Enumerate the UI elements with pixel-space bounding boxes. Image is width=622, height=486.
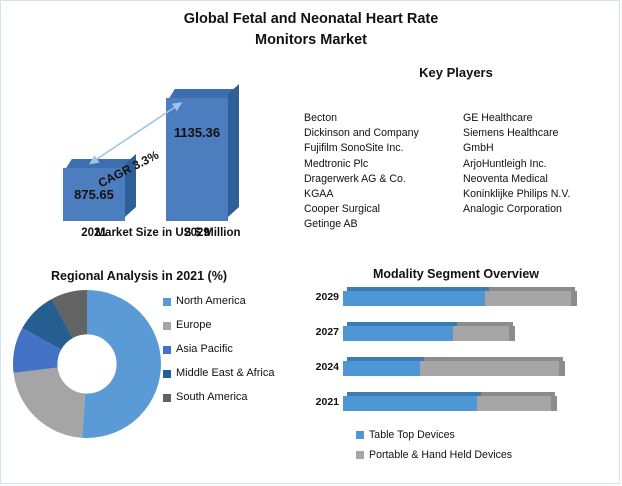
page-title-line-1: Global Fetal and Neonatal Heart Rate bbox=[111, 9, 511, 30]
legend-swatch-icon bbox=[163, 370, 171, 378]
key-player-item: Cooper Surgical bbox=[304, 202, 439, 217]
legend-label: North America bbox=[176, 295, 246, 309]
legend-item-asia-pacific: Asia Pacific bbox=[163, 343, 288, 357]
legend-item-europe: Europe bbox=[163, 319, 288, 333]
segment-cap-portable bbox=[571, 291, 577, 306]
legend-swatch-icon bbox=[163, 298, 171, 306]
legend-swatch-icon bbox=[356, 431, 364, 439]
key-player-item: Fujifilm SonoSite Inc. bbox=[304, 141, 439, 156]
modality-row-2024: 2024 bbox=[301, 355, 601, 381]
key-player-item: Medtronic Plc bbox=[304, 157, 439, 172]
legend-item-south-america: South America bbox=[163, 391, 288, 405]
segment-portable-hand-held bbox=[477, 396, 551, 411]
key-player-item: ArjoHuntleigh Inc. bbox=[463, 157, 613, 172]
market-size-axis-label: Market Size in US $ Million bbox=[53, 227, 283, 239]
regional-analysis-title: Regional Analysis in 2021 (%) bbox=[19, 269, 259, 283]
modality-track bbox=[343, 322, 518, 344]
segment-cap-portable bbox=[559, 361, 565, 376]
segment-cap-portable bbox=[551, 396, 557, 411]
modality-year-label: 2021 bbox=[305, 396, 339, 408]
legend-label: Middle East & Africa bbox=[176, 367, 274, 381]
modality-bar-chart: 2029 2027 2024 bbox=[301, 285, 601, 425]
key-player-item: Siemens Healthcare bbox=[463, 126, 613, 141]
key-players-column-2: GE Healthcare Siemens Healthcare GmbH Ar… bbox=[463, 111, 613, 217]
legend-swatch-icon bbox=[163, 346, 171, 354]
legend-item-middle-east-africa: Middle East & Africa bbox=[163, 367, 288, 381]
page-title-line-2: Monitors Market bbox=[111, 30, 511, 51]
infographic-canvas: Global Fetal and Neonatal Heart Rate Mon… bbox=[0, 0, 620, 484]
modality-year-label: 2027 bbox=[305, 326, 339, 338]
modality-track bbox=[343, 357, 571, 379]
segment-table-top-devices bbox=[343, 326, 453, 341]
bar-2029-top-face bbox=[169, 89, 237, 98]
modality-row-2027: 2027 bbox=[301, 320, 601, 346]
modality-legend: Table Top Devices Portable & Hand Held D… bbox=[356, 429, 596, 461]
bar-2029-front-face bbox=[166, 98, 228, 221]
legend-swatch-icon bbox=[163, 394, 171, 402]
modality-segment-title: Modality Segment Overview bbox=[341, 267, 571, 281]
key-player-item: Getinge AB bbox=[304, 217, 439, 232]
key-players-heading: Key Players bbox=[331, 65, 581, 80]
bar-2029-value: 1135.36 bbox=[166, 125, 228, 141]
legend-item-table-top-devices: Table Top Devices bbox=[356, 429, 596, 441]
segment-portable-hand-held bbox=[485, 291, 571, 306]
legend-label: Asia Pacific bbox=[176, 343, 233, 357]
key-player-item: Analogic Corporation bbox=[463, 202, 613, 217]
bar-2029: 1135.36 bbox=[166, 89, 228, 221]
regional-legend: North America Europe Asia Pacific Middle… bbox=[163, 295, 288, 405]
page-title: Global Fetal and Neonatal Heart Rate Mon… bbox=[111, 9, 511, 51]
legend-swatch-icon bbox=[356, 451, 364, 459]
segment-cap-portable bbox=[509, 326, 515, 341]
key-player-item: Becton bbox=[304, 111, 439, 126]
modality-track bbox=[343, 287, 583, 309]
segment-portable-hand-held bbox=[453, 326, 509, 341]
bar-2029-side-face bbox=[228, 84, 239, 217]
key-player-item: Neoventa Medical bbox=[463, 172, 613, 187]
legend-label: Portable & Hand Held Devices bbox=[369, 449, 512, 461]
legend-swatch-icon bbox=[163, 322, 171, 330]
modality-row-2029: 2029 bbox=[301, 285, 601, 311]
segment-table-top-devices bbox=[343, 291, 485, 306]
key-player-item: Dragerwerk AG & Co. bbox=[304, 172, 439, 187]
legend-label: Table Top Devices bbox=[369, 429, 455, 441]
key-player-item: Koninklijke Philips N.V. bbox=[463, 187, 613, 202]
segment-table-top-devices bbox=[343, 361, 420, 376]
key-player-item: GE Healthcare bbox=[463, 111, 613, 126]
key-player-item: GmbH bbox=[463, 141, 613, 156]
modality-year-label: 2029 bbox=[305, 291, 339, 303]
bar-2021-value: 875.65 bbox=[63, 187, 125, 203]
legend-label: Europe bbox=[176, 319, 211, 333]
segment-portable-hand-held bbox=[420, 361, 559, 376]
regional-donut-chart bbox=[13, 289, 161, 439]
key-player-item: KGAA bbox=[304, 187, 439, 202]
segment-table-top-devices bbox=[343, 396, 477, 411]
modality-year-label: 2024 bbox=[305, 361, 339, 373]
key-players-column-1: Becton Dickinson and Company Fujifilm So… bbox=[304, 111, 439, 233]
key-player-item: Dickinson and Company bbox=[304, 126, 439, 141]
modality-row-2021: 2021 bbox=[301, 390, 601, 416]
modality-track bbox=[343, 392, 561, 414]
legend-item-portable-hand-held-devices: Portable & Hand Held Devices bbox=[356, 449, 596, 461]
donut-svg bbox=[13, 289, 161, 439]
legend-item-north-america: North America bbox=[163, 295, 288, 309]
legend-label: South America bbox=[176, 391, 248, 405]
market-size-bar-chart: 875.65 2021 1135.36 2029 CAGR 3.3% Marke bbox=[41, 79, 291, 249]
